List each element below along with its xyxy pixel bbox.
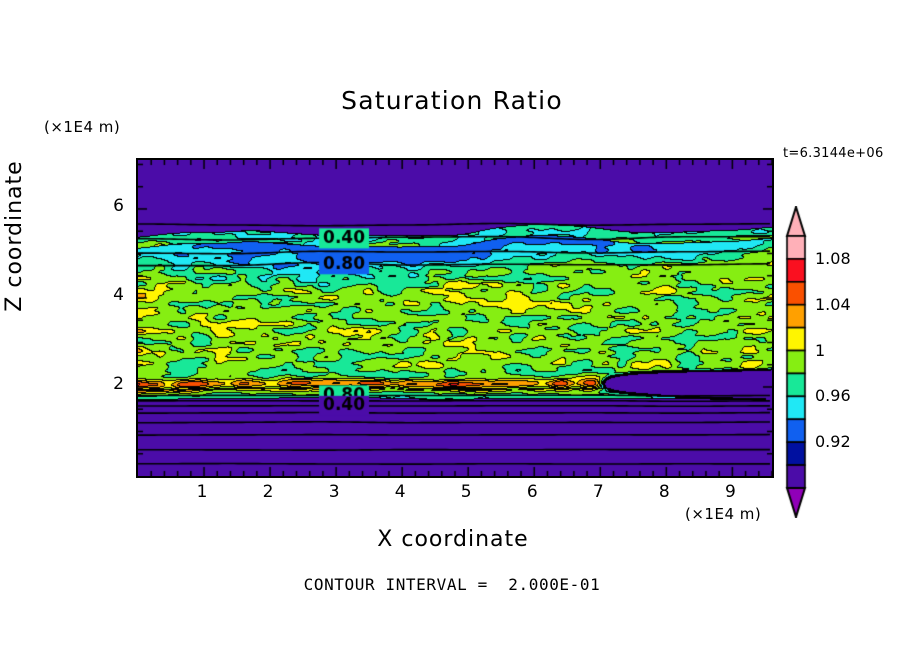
x-tick-label: 7 [586, 482, 610, 502]
contour-plot-area [136, 158, 774, 478]
y-axis-units-label: (×1E4 m) [44, 118, 120, 136]
colorbar-canvas [784, 206, 808, 518]
x-axis-units-label: (×1E4 m) [685, 505, 761, 523]
colorbar: 1.081.0410.960.92 [784, 206, 808, 518]
x-tick-label: 6 [520, 482, 544, 502]
figure-root: Saturation Ratio (×1E4 m) t=6.3144e+06 X… [0, 0, 904, 654]
contour-field-canvas [138, 160, 772, 476]
colorbar-tick-label: 1.04 [815, 295, 851, 314]
y-axis-title: Z coordinate [2, 136, 27, 336]
y-tick-label: 6 [100, 196, 124, 216]
x-tick-label: 9 [718, 482, 742, 502]
x-tick-label: 1 [190, 482, 214, 502]
colorbar-tick-label: 1.08 [815, 249, 851, 268]
x-tick-label: 8 [652, 482, 676, 502]
y-tick-label: 2 [100, 374, 124, 394]
x-tick-label: 2 [256, 482, 280, 502]
y-tick-label: 4 [100, 285, 124, 305]
colorbar-tick-label: 1 [815, 341, 825, 360]
x-tick-label: 4 [388, 482, 412, 502]
x-tick-label: 5 [454, 482, 478, 502]
colorbar-tick-label: 0.92 [815, 432, 851, 451]
colorbar-tick-label: 0.96 [815, 386, 851, 405]
time-stamp-annotation: t=6.3144e+06 [783, 146, 884, 161]
x-axis-title: X coordinate [136, 527, 770, 552]
x-tick-label: 3 [322, 482, 346, 502]
contour-interval-caption: CONTOUR INTERVAL = 2.000E-01 [0, 575, 904, 594]
page-title: Saturation Ratio [0, 86, 904, 115]
